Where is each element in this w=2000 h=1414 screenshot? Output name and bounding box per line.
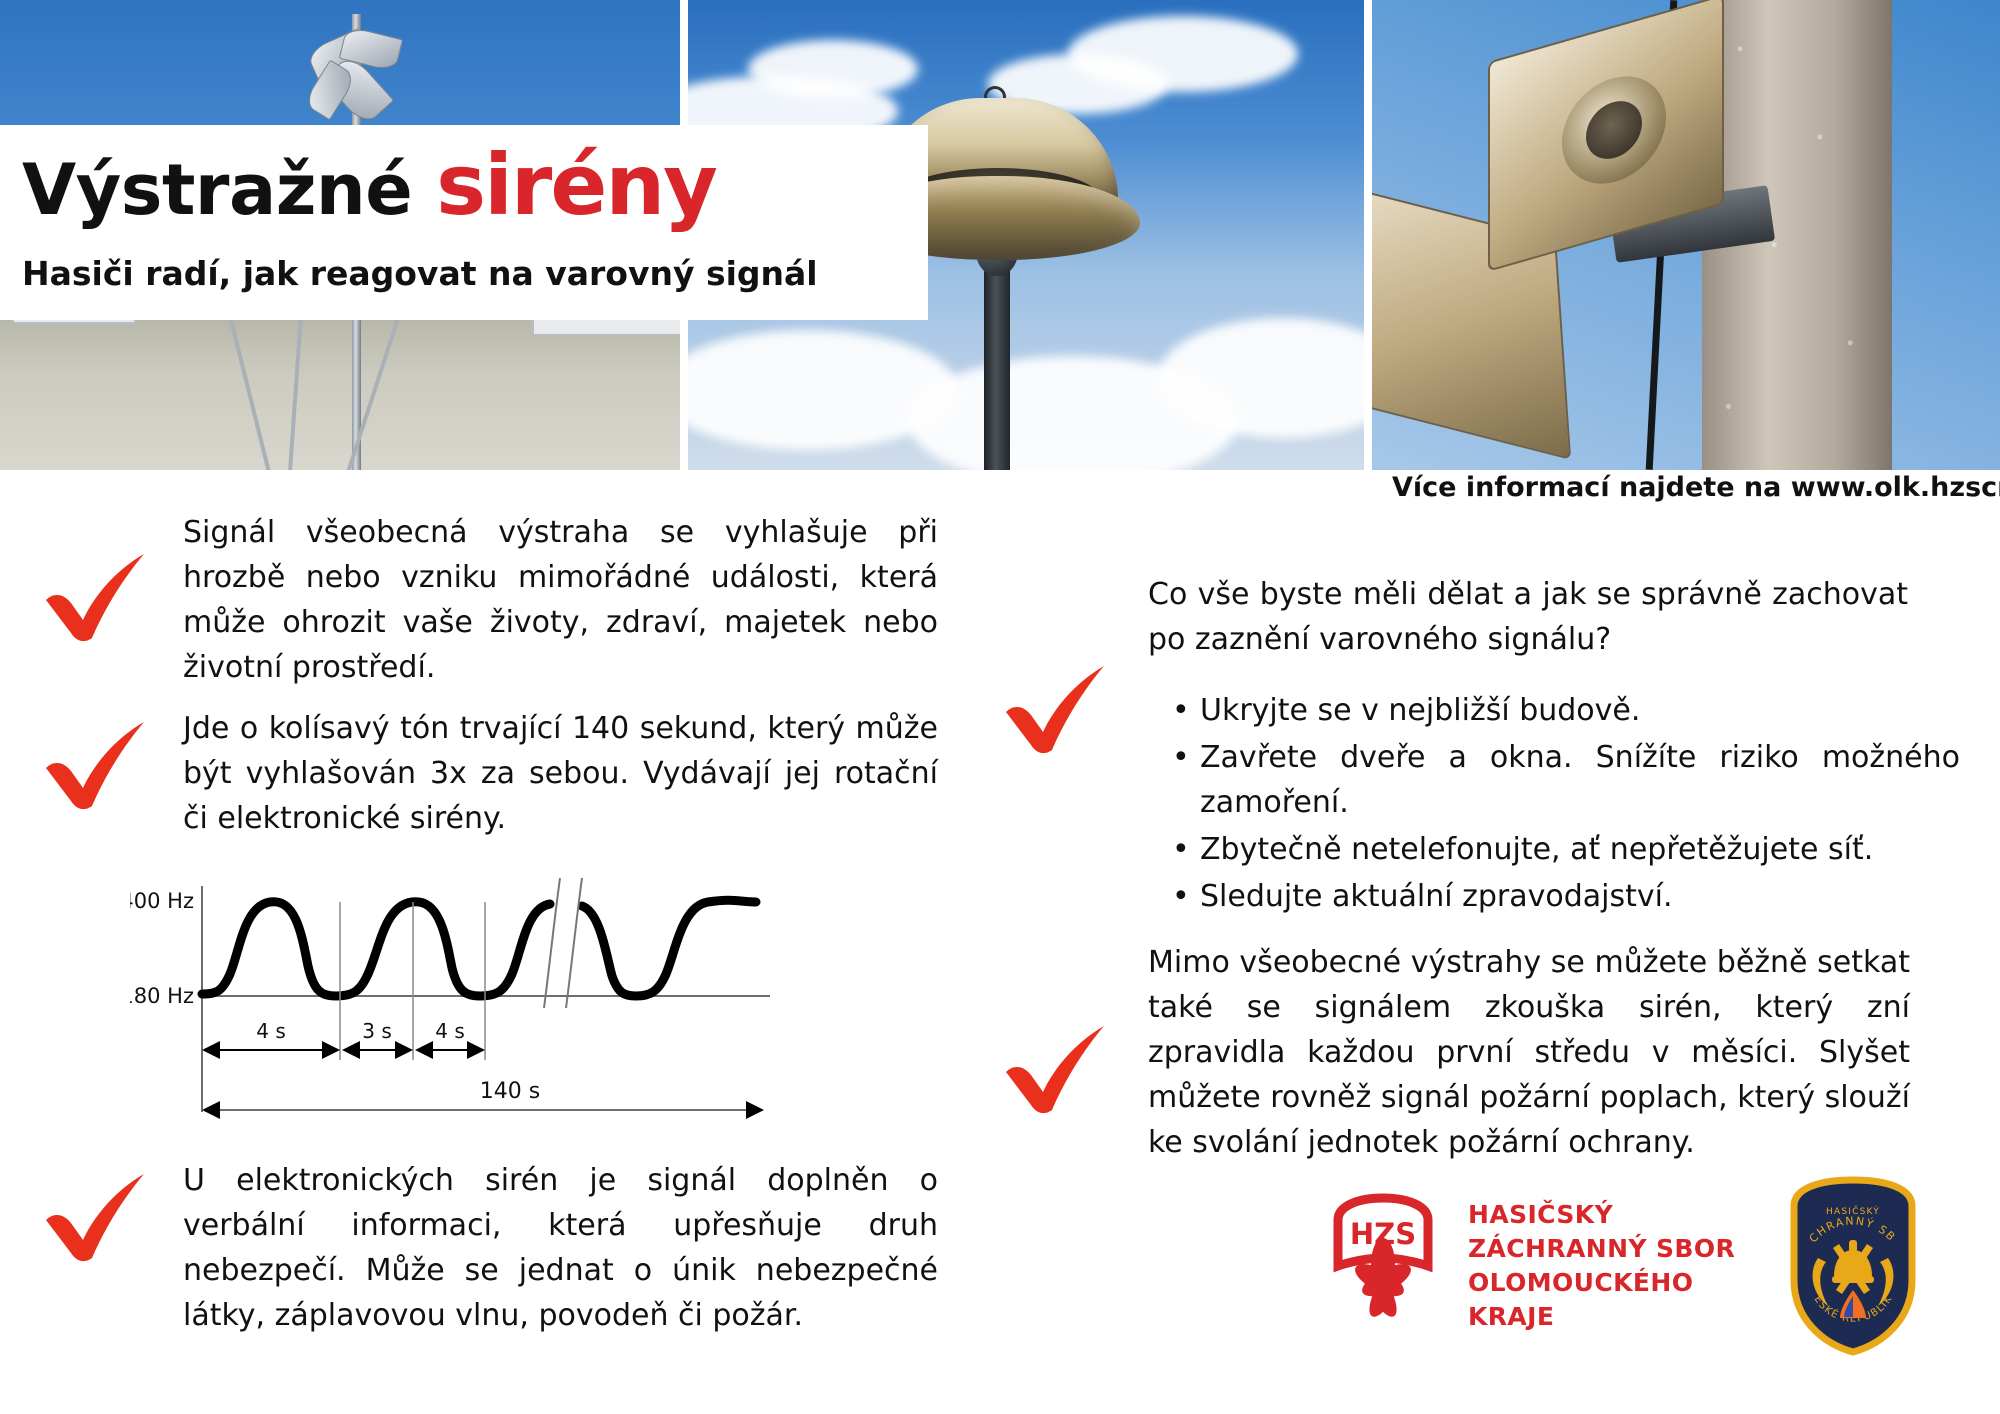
red-checkmark-icon bbox=[1000, 660, 1118, 756]
photo-horn-loudspeaker bbox=[1372, 0, 2000, 470]
y-tick-180hz: 180 Hz bbox=[130, 984, 194, 1008]
hzs-word-line: ZÁCHRANNÝ SBOR bbox=[1468, 1232, 1735, 1266]
left-item-1-text: Signál všeobecná výstraha se vyhlašuje p… bbox=[183, 510, 938, 690]
axis-break-mark bbox=[566, 878, 582, 1008]
hzs-logo-mark: HZS bbox=[1328, 1192, 1438, 1332]
title-red-part: sirény bbox=[436, 136, 716, 234]
header-photo-strip bbox=[0, 0, 2000, 470]
list-item: Ukryjte se v nejbližší budově. bbox=[1200, 688, 1960, 733]
hzs-logo-wordmark: HASIČSKÝ ZÁCHRANNÝ SBOR OLOMOUCKÉHO KRAJ… bbox=[1468, 1198, 1735, 1334]
badge-header-text: HASIČSKÝ bbox=[1826, 1205, 1880, 1217]
left-item-2-text: Jde o kolísavý tón trvající 140 sekund, … bbox=[183, 706, 938, 841]
page-title: Výstražné sirény bbox=[22, 136, 716, 234]
dim-label-4s-a: 4 s bbox=[256, 1019, 286, 1043]
siren-waveform-chart: 400 Hz 180 Hz 4 s 3 s 4 s 140 s bbox=[130, 862, 770, 1122]
left-item-3-text: U elektronických sirén je signál doplněn… bbox=[183, 1158, 938, 1338]
hzs-word-line: HASIČSKÝ bbox=[1468, 1198, 1735, 1232]
title-black-part: Výstražné bbox=[22, 149, 412, 231]
list-item: Zavřete dveře a okna. Snížíte riziko mož… bbox=[1200, 735, 1960, 825]
waveform-curve-right bbox=[582, 900, 756, 996]
page-subtitle: Hasiči radí, jak reagovat na varovný sig… bbox=[22, 254, 818, 293]
red-checkmark-icon bbox=[40, 716, 158, 812]
hzs-word-line: OLOMOUCKÉHO bbox=[1468, 1266, 1735, 1300]
right-question-heading: Co vše byste měli dělat a jak se správně… bbox=[1148, 572, 1908, 662]
axis-break-mark bbox=[544, 878, 560, 1008]
right-closing-text: Mimo všeobecné výstrahy se můžete běžně … bbox=[1148, 940, 1910, 1165]
red-checkmark-icon bbox=[40, 548, 158, 644]
hzs-word-line: KRAJE bbox=[1468, 1300, 1735, 1334]
website-note[interactable]: Více informací najdete na www.olk.hzscr.… bbox=[1392, 472, 1982, 503]
cloud bbox=[748, 40, 918, 98]
red-checkmark-icon bbox=[40, 1168, 158, 1264]
y-tick-400hz: 400 Hz bbox=[130, 889, 194, 913]
action-bullet-list: Ukryjte se v nejbližší budově. Zavřete d… bbox=[1160, 688, 1960, 921]
waveform-svg: 400 Hz 180 Hz 4 s 3 s 4 s 140 s bbox=[130, 862, 770, 1122]
red-checkmark-icon bbox=[1000, 1020, 1118, 1116]
dim-label-4s-b: 4 s bbox=[435, 1019, 465, 1043]
waveform-curve-left bbox=[202, 902, 550, 996]
list-item: Zbytečně netelefonujte, ať nepřetěžujete… bbox=[1200, 827, 1960, 872]
hzs-cr-badge: ZÁCHRANNÝ SBOR HASIČSKÝ ČESKÉ REPUBLIKY bbox=[1778, 1172, 1928, 1357]
rotary-siren-head bbox=[300, 30, 420, 126]
list-item: Sledujte aktuální zpravodajství. bbox=[1200, 874, 1960, 919]
dim-label-140s: 140 s bbox=[480, 1079, 540, 1104]
dim-label-3s: 3 s bbox=[362, 1019, 392, 1043]
